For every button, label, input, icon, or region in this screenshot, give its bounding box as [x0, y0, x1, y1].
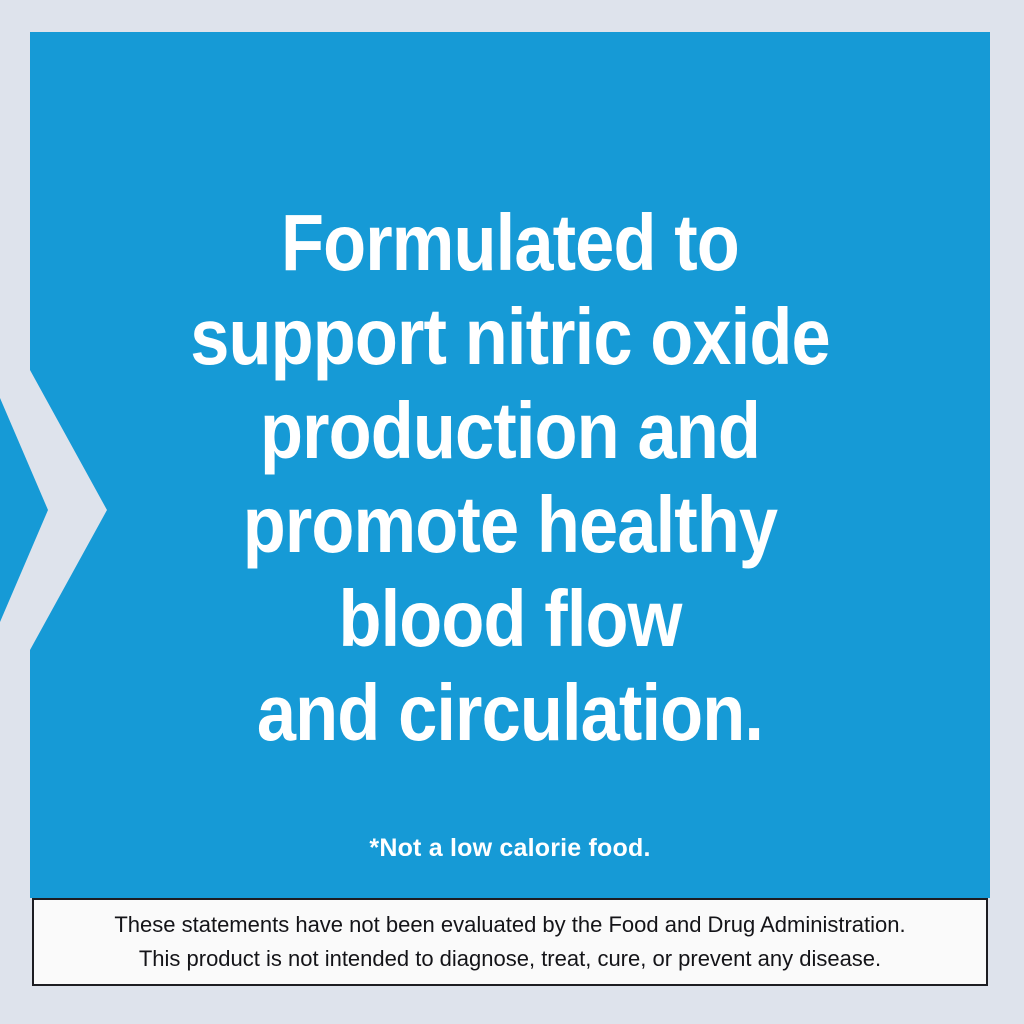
disclaimer-line-1: These statements have not been evaluated… — [114, 908, 905, 942]
calorie-footnote: *Not a low calorie food. — [30, 833, 990, 863]
promotional-banner: Formulated to support nitric oxide produ… — [0, 0, 1024, 1024]
headline-text: Formulated to support nitric oxide produ… — [88, 196, 933, 760]
headline-line-1: Formulated to — [88, 196, 933, 290]
headline-line-2: support nitric oxide — [88, 290, 933, 384]
headline-line-3: production and — [88, 384, 933, 478]
headline-line-5: blood flow — [88, 572, 933, 666]
fda-disclaimer-box: These statements have not been evaluated… — [32, 898, 988, 986]
chevron-right-icon — [0, 398, 48, 622]
headline-line-4: promote healthy — [88, 478, 933, 572]
disclaimer-line-2: This product is not intended to diagnose… — [139, 942, 881, 976]
headline-line-6: and circulation. — [88, 666, 933, 760]
